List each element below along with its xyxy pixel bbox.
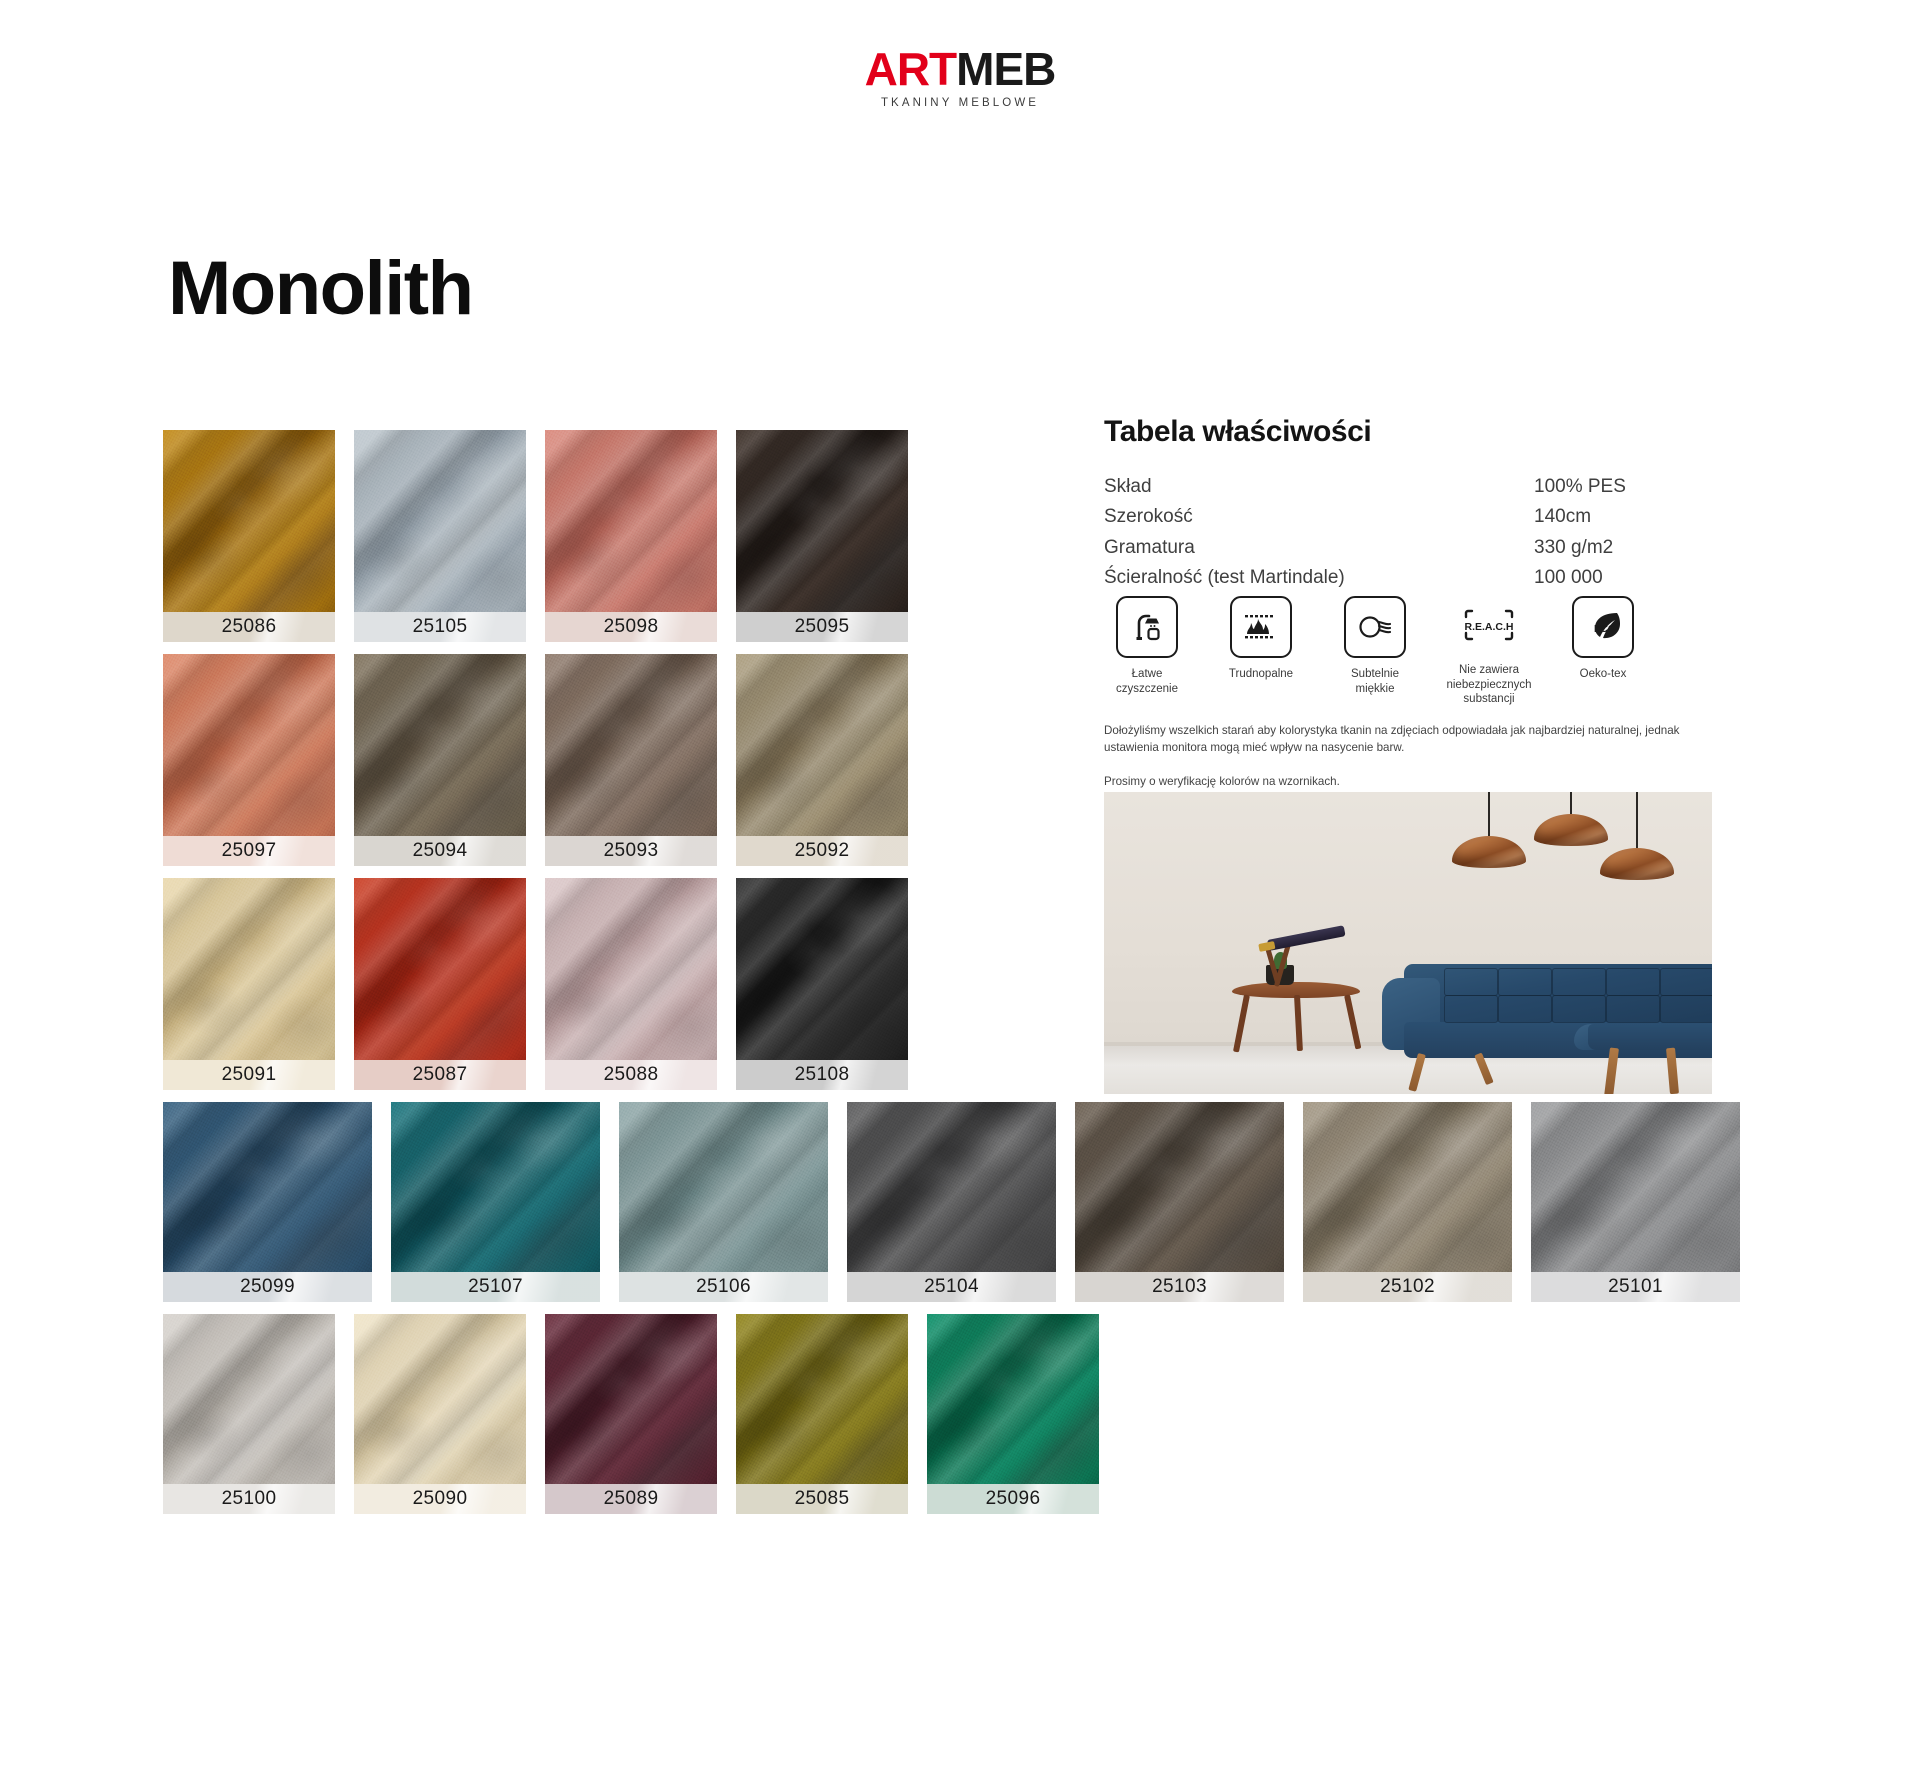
fabric-grain xyxy=(354,654,526,866)
fabric-swatch[interactable]: 25087 xyxy=(354,878,526,1090)
fabric-grain xyxy=(736,430,908,642)
feature-item: Trudnopalne xyxy=(1218,596,1304,707)
swatch-code-label: 25102 xyxy=(1303,1272,1512,1302)
swatch-code-label: 25098 xyxy=(545,612,717,642)
fabric-swatch[interactable]: 25101 xyxy=(1531,1102,1740,1302)
property-label: Skład xyxy=(1104,475,1534,505)
swatch-code-text: 25096 xyxy=(986,1488,1041,1509)
swatch-row: 25099251072510625104251032510225101 xyxy=(163,1102,1743,1302)
swatch-code-label: 25088 xyxy=(545,1060,717,1090)
svg-text:ECO: ECO xyxy=(1594,624,1616,635)
properties-table-body: Skład100% PESSzerokość140cmGramatura330 … xyxy=(1104,475,1744,596)
fabric-grain xyxy=(736,654,908,866)
swatch-code-label: 25097 xyxy=(163,836,335,866)
reach-icon: R.E.A.C.H xyxy=(1460,596,1518,654)
bench-leg xyxy=(1666,1048,1679,1094)
fabric-swatch[interactable]: 25105 xyxy=(354,430,526,642)
feature-icons-row: Łatwe czyszczenieTrudnopalneSubtelnie mi… xyxy=(1104,596,1764,707)
logo-art-text: ART xyxy=(865,43,957,95)
swatch-code-text: 25108 xyxy=(795,1064,850,1085)
swatch-code-text: 25092 xyxy=(795,840,850,861)
fabric-swatch[interactable]: 25107 xyxy=(391,1102,600,1302)
property-value: 330 g/m2 xyxy=(1534,536,1744,566)
swatch-code-text: 25097 xyxy=(222,840,277,861)
property-row: Gramatura330 g/m2 xyxy=(1104,536,1744,566)
logo-tagline: TKANINY MEBLOWE xyxy=(0,97,1920,109)
property-value: 100% PES xyxy=(1534,475,1744,505)
sofa-tuft xyxy=(1660,995,1712,1023)
swatch-code-label: 25108 xyxy=(736,1060,908,1090)
swatch-code-label: 25087 xyxy=(354,1060,526,1090)
swatch-code-text: 25087 xyxy=(413,1064,468,1085)
bench-seat xyxy=(1588,1024,1712,1050)
fabric-swatch[interactable]: 25099 xyxy=(163,1102,372,1302)
property-value: 100 000 xyxy=(1534,566,1744,596)
feature-label: Trudnopalne xyxy=(1218,667,1304,682)
swatch-code-label: 25101 xyxy=(1531,1272,1740,1302)
swatch-code-label: 25094 xyxy=(354,836,526,866)
fabric-swatch[interactable]: 25100 xyxy=(163,1314,335,1514)
side-table xyxy=(1232,982,1360,1052)
swatch-code-text: 25107 xyxy=(468,1276,523,1297)
swatch-code-label: 25086 xyxy=(163,612,335,642)
swatch-code-text: 25088 xyxy=(604,1064,659,1085)
fabric-swatch[interactable]: 25098 xyxy=(545,430,717,642)
disclaimer-paragraph-2: Prosimy o weryfikację kolorów na wzornik… xyxy=(1104,774,1724,791)
sofa-tuft xyxy=(1498,968,1552,996)
swatch-code-label: 25104 xyxy=(847,1272,1056,1302)
properties-panel: Tabela właściwości Skład100% PESSzerokoś… xyxy=(1104,415,1744,596)
property-label: Szerokość xyxy=(1104,505,1534,535)
soft-touch-icon xyxy=(1344,596,1406,658)
swatch-code-text: 25090 xyxy=(413,1488,468,1509)
swatch-code-text: 25099 xyxy=(240,1276,295,1297)
feature-label: Oeko-tex xyxy=(1560,667,1646,682)
svg-text:R.E.A.C.H: R.E.A.C.H xyxy=(1464,621,1513,633)
swatch-code-label: 25095 xyxy=(736,612,908,642)
fabric-grain xyxy=(354,430,526,642)
interior-room-photo xyxy=(1104,792,1712,1094)
fabric-swatch[interactable]: 25091 xyxy=(163,878,335,1090)
swatch-code-text: 25091 xyxy=(222,1064,277,1085)
swatch-code-text: 25094 xyxy=(413,840,468,861)
brand-logo: ARTMEB TKANINY MEBLOWE xyxy=(0,46,1920,109)
swatch-code-label: 25096 xyxy=(927,1484,1099,1514)
feature-item: Łatwe czyszczenie xyxy=(1104,596,1190,707)
property-label: Ścieralność (test Martindale) xyxy=(1104,566,1534,596)
swatch-code-text: 25098 xyxy=(604,616,659,637)
swatch-code-text: 25100 xyxy=(222,1488,277,1509)
swatch-code-text: 25104 xyxy=(924,1276,979,1297)
feature-label: Łatwe czyszczenie xyxy=(1104,667,1190,696)
swatch-code-label: 25091 xyxy=(163,1060,335,1090)
property-row: Ścieralność (test Martindale)100 000 xyxy=(1104,566,1744,596)
fabric-swatch[interactable]: 25096 xyxy=(927,1314,1099,1514)
swatch-code-text: 25106 xyxy=(696,1276,751,1297)
swatch-row: 2510025090250892508525096 xyxy=(163,1314,1743,1514)
fabric-swatch[interactable]: 25089 xyxy=(545,1314,717,1514)
sofa-leg xyxy=(1408,1053,1426,1092)
fabric-swatch[interactable]: 25102 xyxy=(1303,1102,1512,1302)
sofa-tuft xyxy=(1444,968,1498,996)
properties-heading: Tabela właściwości xyxy=(1104,415,1744,449)
blue-bench xyxy=(1574,1024,1712,1094)
sofa-tuft xyxy=(1498,995,1552,1023)
sofa-tuft xyxy=(1552,968,1606,996)
swatch-code-text: 25093 xyxy=(604,840,659,861)
swatch-code-label: 25106 xyxy=(619,1272,828,1302)
fabric-swatch[interactable]: 25108 xyxy=(736,878,908,1090)
fabric-swatch[interactable]: 25090 xyxy=(354,1314,526,1514)
fabric-grain xyxy=(163,878,335,1090)
sofa-tuft xyxy=(1552,995,1606,1023)
fabric-swatch[interactable]: 25094 xyxy=(354,654,526,866)
page-title: Monolith xyxy=(168,251,473,327)
feature-item: R.E.A.C.HNie zawiera niebezpiecznych sub… xyxy=(1446,596,1532,707)
logo-wordmark: ARTMEB xyxy=(0,46,1920,92)
fabric-swatch[interactable]: 25106 xyxy=(619,1102,828,1302)
fabric-swatch[interactable]: 25085 xyxy=(736,1314,908,1514)
sofa-tuft xyxy=(1606,968,1660,996)
property-row: Szerokość140cm xyxy=(1104,505,1744,535)
oeko-tex-leaf-icon: ECO xyxy=(1572,596,1634,658)
property-value: 140cm xyxy=(1534,505,1744,535)
swatch-code-label: 25085 xyxy=(736,1484,908,1514)
feature-item: ECOOeko-tex xyxy=(1560,596,1646,707)
pendant-lamp-left xyxy=(1452,792,1526,872)
fabric-swatch[interactable]: 25092 xyxy=(736,654,908,866)
property-label: Gramatura xyxy=(1104,536,1534,566)
swatch-code-label: 25090 xyxy=(354,1484,526,1514)
fabric-grain xyxy=(545,430,717,642)
swatch-code-label: 25089 xyxy=(545,1484,717,1514)
flame-retardant-icon xyxy=(1230,596,1292,658)
swatch-code-label: 25099 xyxy=(163,1272,372,1302)
property-row: Skład100% PES xyxy=(1104,475,1744,505)
fabric-grain xyxy=(545,654,717,866)
swatch-code-text: 25085 xyxy=(795,1488,850,1509)
feature-label: Nie zawiera niebezpiecznych substancji xyxy=(1446,663,1532,707)
fabric-grain xyxy=(736,878,908,1090)
logo-meb-text: MEB xyxy=(956,43,1055,95)
swatch-code-text: 25086 xyxy=(222,616,277,637)
swatch-code-label: 25103 xyxy=(1075,1272,1284,1302)
fabric-swatch[interactable]: 25086 xyxy=(163,430,335,642)
fabric-grain xyxy=(354,878,526,1090)
fabric-swatch[interactable]: 25088 xyxy=(545,878,717,1090)
bench-leg xyxy=(1604,1047,1619,1094)
sofa-tuft xyxy=(1660,968,1712,996)
swatch-code-label: 25093 xyxy=(545,836,717,866)
fabric-swatch[interactable]: 25103 xyxy=(1075,1102,1284,1302)
pendant-lamp-right xyxy=(1600,792,1674,888)
swatch-code-label: 25107 xyxy=(391,1272,600,1302)
fabric-swatch[interactable]: 25095 xyxy=(736,430,908,642)
properties-table: Skład100% PESSzerokość140cmGramatura330 … xyxy=(1104,475,1744,596)
swatch-code-label: 25092 xyxy=(736,836,908,866)
swatch-code-text: 25089 xyxy=(604,1488,659,1509)
swatch-code-label: 25100 xyxy=(163,1484,335,1514)
swatch-code-text: 25095 xyxy=(795,616,850,637)
swatch-code-text: 25102 xyxy=(1380,1276,1435,1297)
fabric-swatch[interactable]: 25104 xyxy=(847,1102,1056,1302)
fabric-grain xyxy=(545,878,717,1090)
pendant-lamp-center xyxy=(1534,792,1608,854)
color-disclaimer: Dołożyliśmy wszelkich starań aby kolorys… xyxy=(1104,723,1724,790)
fabric-grain xyxy=(163,654,335,866)
disclaimer-paragraph-1: Dołożyliśmy wszelkich starań aby kolorys… xyxy=(1104,723,1724,757)
swatch-code-text: 25105 xyxy=(413,616,468,637)
fabric-swatch[interactable]: 25097 xyxy=(163,654,335,866)
sofa-tuft xyxy=(1444,995,1498,1023)
feature-label: Subtelnie miękkie xyxy=(1332,667,1418,696)
fabric-grain xyxy=(163,430,335,642)
swatch-code-text: 25101 xyxy=(1608,1276,1663,1297)
swatch-code-label: 25105 xyxy=(354,612,526,642)
easy-clean-icon xyxy=(1116,596,1178,658)
swatch-code-text: 25103 xyxy=(1152,1276,1207,1297)
feature-item: Subtelnie miękkie xyxy=(1332,596,1418,707)
sofa-tuft xyxy=(1606,995,1660,1023)
fabric-swatch[interactable]: 25093 xyxy=(545,654,717,866)
